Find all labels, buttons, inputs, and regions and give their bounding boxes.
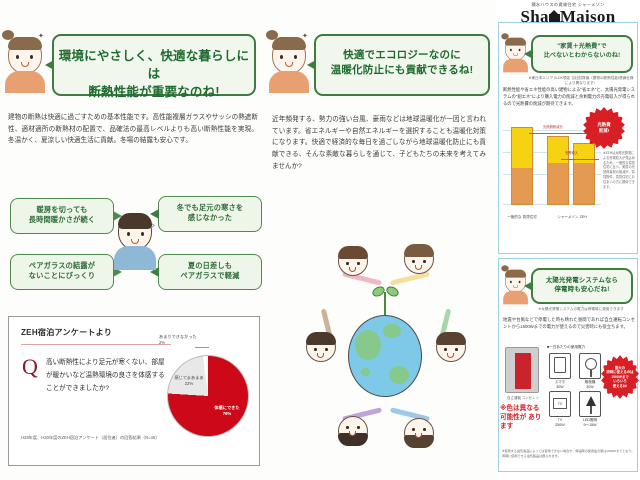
color-caution-text: ※色は異なる 可能性が あります <box>500 405 546 432</box>
headline-text-center: 快適でエコロジーなのに 温暖化防止にも貢献できるね! <box>331 49 474 76</box>
bubble-tail <box>150 209 159 219</box>
eye-left <box>510 281 512 283</box>
torso <box>269 71 309 93</box>
survey-q-mark: Q <box>22 354 38 380</box>
bubble-tail <box>307 60 316 70</box>
segment-rent <box>574 163 594 204</box>
segment-utility-cost <box>512 128 532 168</box>
headline-text-panel-b: 太陽光発電システムなら 停電時も安心だね! <box>546 277 618 293</box>
body-text-center: 近年頻発する、勢力の強い台風、豪雨などは地球温暖化が一因と言われています。省エネ… <box>272 114 486 173</box>
eye-left <box>127 232 130 236</box>
hair-top <box>272 37 306 50</box>
cost-savings-badge-text: 光熱費 削減! <box>597 122 610 133</box>
survey-question: 高い断熱性により足元が寒くない、部屋が暖かいなど温熱環境の良さを体感することがで… <box>46 357 171 396</box>
zeh-survey-card: ZEH宿泊アンケートより Q 高い断熱性により足元が寒くない、部屋が暖かいなど温… <box>8 316 260 466</box>
survey-source: H29年度、H30年度のZEH宿泊アンケート（居住者）の回答結果（N=46） <box>21 435 221 441</box>
child-hair <box>338 246 368 259</box>
voice-bubble-2-text: 冬でも足元の寒さを 感じなかった <box>177 203 244 222</box>
body-text-left: 建物の断熱は快適に過ごすための基本性能です。高性能複層ガラスやサッシの熱遮断性、… <box>8 112 258 147</box>
device-list-title: ■一日あたりの使用電力 <box>547 345 585 350</box>
device-smartphone: スマホ 30W <box>547 353 573 389</box>
survey-divider <box>21 344 171 345</box>
bubble-tail <box>524 281 533 291</box>
device-tv: TV TV 250W <box>547 391 573 427</box>
panel-a-side-note: ※ZEHは太陽光発電による売電収入が見込めるため、一般的な賃貸住宅に比べ、実質の… <box>603 151 636 189</box>
torso <box>5 71 45 93</box>
annotation-line-2 <box>561 159 599 160</box>
panel-solar-backup: 太陽光発電システムなら 停電時も安心だね! ※太陽光発電システムの電力は停電時に… <box>498 258 638 472</box>
torso <box>503 291 528 305</box>
led-lamp-icon <box>579 391 601 417</box>
right-rail: 積水ハウスの賃貸住宅 シャーメゾン ShaMaison "家賃＋光熱費"で 比べ… <box>496 0 640 480</box>
sprout-stem <box>384 292 386 316</box>
bubble-tail <box>45 60 54 70</box>
headline-bubble-panel-a: "家賃＋光熱費"で 比べないとわからないのね! <box>531 35 633 73</box>
child-eye-left <box>346 426 349 429</box>
eye-left <box>510 49 512 51</box>
pie-label-secondary: 感じてまあまあ22% <box>172 375 206 387</box>
child-hair <box>306 332 336 345</box>
fan-icon <box>579 353 601 379</box>
device-tv-watt: 250W <box>547 423 573 427</box>
child-eye-left <box>412 260 415 263</box>
voice-bubble-4-text: 夏の日差しも ペアガラスで軽減 <box>181 261 240 280</box>
torso <box>114 246 156 270</box>
pie-label-primary: 体感にできた76% <box>205 405 249 417</box>
bar-label-0: 一般的な 賃貸住宅 <box>505 215 539 220</box>
child-eye-left <box>314 348 317 351</box>
device-smartphone-watt: 30W <box>547 385 573 389</box>
outlet-strip <box>515 353 531 389</box>
bar-general-rental <box>511 127 533 205</box>
child-eye-right <box>325 348 328 351</box>
survey-pie-chart <box>167 355 249 437</box>
power-capacity-badge: 最大の 同時に使えるのは 1500Wまで いろいろ 使えるね! <box>601 355 639 399</box>
child-eye-left <box>412 428 415 431</box>
torso <box>503 59 528 73</box>
hair-top <box>505 270 526 278</box>
child-eye-right <box>455 348 458 351</box>
earth-globe <box>348 315 422 397</box>
hair-top <box>8 37 42 50</box>
segment-rent <box>512 168 532 204</box>
voice-bubble-1: 暖房を切っても 長時間暖かさが続く <box>10 198 114 234</box>
voice-bubble-2: 冬でも足元の寒さを 感じなかった <box>158 196 262 232</box>
headline-bubble-panel-b: 太陽光発電システムなら 停電時も安心だね! <box>531 268 633 304</box>
eye-right <box>141 232 144 236</box>
power-capacity-badge-text: 最大の 同時に使えるのは 1500Wまで いろいろ 使えるね! <box>606 366 633 388</box>
arm-link-2 <box>390 271 430 286</box>
voice-bubble-4: 夏の日差しも ペアガラスで軽減 <box>158 254 262 290</box>
outlet-caption: 自立運転コンセント <box>501 396 545 401</box>
panel-a-body: 断熱性能や省エネ性能の高い建物による"省エネ"と、太陽光発電システムの"創エネ"… <box>503 86 635 107</box>
child-eye-left <box>444 348 447 351</box>
survey-title: ZEH宿泊アンケートより <box>21 327 112 338</box>
child-hair <box>404 244 434 257</box>
pie-label-tertiary: あまりできなかった2% <box>159 334 205 346</box>
child-eye-right <box>357 262 360 265</box>
sprout-leaf-right <box>385 284 401 298</box>
voice-bubble-1-text: 暖房を切っても 長時間暖かさが続く <box>29 205 96 224</box>
eye-left <box>280 55 283 59</box>
child-eye-left <box>346 262 349 265</box>
landmass-2 <box>383 324 401 338</box>
eye-right <box>30 55 33 59</box>
landmass-3 <box>389 366 409 384</box>
segment-rent <box>548 163 568 204</box>
bar-label-1: シャーメゾン ZEH <box>555 215 589 220</box>
annotation-sales-income: 売電収入 <box>565 151 599 155</box>
bubble-tail <box>524 49 533 59</box>
child-hair <box>436 332 466 345</box>
tv-icon: TV <box>549 391 571 417</box>
eye-left <box>16 55 19 59</box>
device-fan: 扇風機 30W <box>577 353 603 389</box>
panel-b-footnote: ※使用する電気製品によっては使用できない場合や、停電時の使用電力量は1500Wま… <box>502 449 636 458</box>
voice-bubble-3: ペアガラスの結露が ないことにびっくり <box>10 254 114 290</box>
pie-leader-line <box>195 347 209 348</box>
landmass-1 <box>355 330 381 360</box>
headline-bubble-left: 環境にやさしく、快適な暮らしには 断熱性能が重要なのね! <box>52 34 256 96</box>
headline-text-panel-a: "家賃＋光熱費"で 比べないとわからないのね! <box>544 44 621 59</box>
device-led: LED照明 9〜15W <box>577 391 603 428</box>
hair-top <box>118 213 152 229</box>
child-eye-right <box>357 426 360 429</box>
child-eye-right <box>423 428 426 431</box>
panel-b-note: ※太陽光発電システムの電力は停電時に使用できます <box>527 307 635 312</box>
headline-text-left: 環境にやさしく、快適な暮らしには 断熱性能が重要なのね! <box>59 49 250 99</box>
voice-bubble-3-text: ペアガラスの結露が ないことにびっくり <box>29 261 96 280</box>
smartphone-icon <box>549 353 571 379</box>
panel-cost-comparison: "家賃＋光熱費"で 比べないとわからないのね! ※東日本エリア 2LDK想定 当… <box>498 22 638 254</box>
landmass-4 <box>361 368 370 376</box>
brochure-page: ✦ 環境にやさしく、快適な暮らしには 断熱性能が重要なのね! 建物の断熱は快適に… <box>0 0 640 480</box>
outlet-image <box>505 347 539 393</box>
device-fan-watt: 30W <box>577 385 603 389</box>
hair-top <box>505 38 526 46</box>
child-eye-right <box>423 260 426 263</box>
children-around-earth-illustration <box>286 240 486 470</box>
headline-bubble-center: 快適でエコロジーなのに 温暖化防止にも貢献できるね! <box>314 34 490 96</box>
eye-right <box>519 281 521 283</box>
device-led-watt: 9〜15W <box>577 423 603 428</box>
bar-sha-maison-zeh <box>547 136 569 205</box>
eye-right <box>519 49 521 51</box>
eye-right <box>294 55 297 59</box>
panel-b-body: 地震や台風などで停電した時も晴れた昼間であれば自立運転コンセントから1500Wま… <box>503 316 635 330</box>
annotation-line-1 <box>529 133 595 134</box>
